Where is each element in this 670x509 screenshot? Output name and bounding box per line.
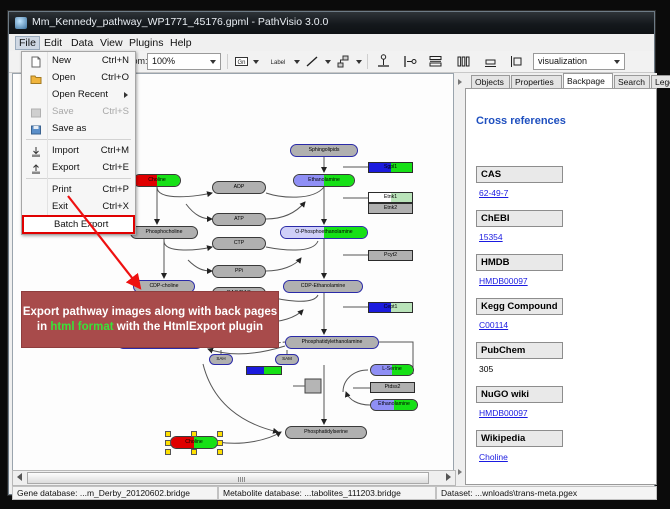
xref-value-kegg[interactable]: C00114	[479, 320, 508, 330]
menu-separator	[26, 139, 131, 140]
scrollbar-grip	[238, 477, 245, 482]
menu-item-open-recent[interactable]: Open Recent	[22, 86, 135, 103]
gene-pcyt2[interactable]: Pcyt2	[368, 250, 413, 261]
status-bar: Gene database: ...m_Derby_20120602.bridg…	[12, 486, 657, 500]
menu-item-batch-export[interactable]: Batch Export	[22, 215, 135, 234]
tab-backpage[interactable]: Backpage	[563, 73, 613, 88]
tab-search[interactable]: Search	[614, 75, 650, 88]
same-height-icon[interactable]	[509, 54, 524, 69]
node-label: Sphingolipids	[309, 148, 340, 153]
menu-item-print[interactable]: Print Ctrl+P	[22, 181, 135, 198]
backpage-content: Cross references CAS 62-49-7 ChEBI 15354…	[465, 88, 657, 485]
xref-label-kegg: Kegg Compound	[476, 298, 563, 315]
selection-handle[interactable]	[191, 449, 197, 455]
gene-ptdss2[interactable]: Ptdss2	[370, 382, 415, 393]
selection-handle[interactable]	[165, 431, 171, 437]
label-tool-icon[interactable]: Label	[264, 54, 292, 69]
node-cdp-ethanolamine[interactable]: CDP-Ethanolamine	[283, 280, 363, 293]
selection-handle[interactable]	[217, 440, 223, 446]
selection-handle[interactable]	[165, 449, 171, 455]
line-dropdown-icon[interactable]	[325, 60, 331, 64]
annotation-text: Export pathway images along with back pa…	[22, 305, 278, 333]
node-label: Ethanolamine	[378, 402, 410, 407]
svg-text:Label: Label	[271, 60, 286, 66]
toolbar-separator	[227, 54, 228, 69]
align-left-icon[interactable]	[402, 54, 417, 69]
align-top-icon[interactable]	[376, 54, 391, 69]
gene-etnk1[interactable]: Etnk1	[368, 192, 413, 203]
datanode-tool-icon[interactable]: Gn	[234, 54, 249, 69]
xref-label-pubchem: PubChem	[476, 342, 563, 359]
selection-handle[interactable]	[217, 431, 223, 437]
side-panel: Objects Properties Backpage Search Legen…	[465, 73, 657, 485]
menu-item-save: Save Ctrl+S	[22, 103, 135, 120]
save-as-icon	[30, 123, 42, 135]
gene-sgpl1[interactable]: Sgpl1	[368, 162, 413, 173]
xref-value-pubchem: 305	[479, 364, 493, 374]
menu-plugins[interactable]: Plugins	[125, 36, 167, 50]
node-l-serine[interactable]: L-Serine	[370, 364, 414, 376]
zoom-select[interactable]: 100%	[147, 53, 221, 70]
node-label: Choline	[148, 178, 166, 183]
status-metabolite-database: Metabolite database: ...tabolites_111203…	[218, 486, 436, 500]
xref-label-wikipedia: Wikipedia	[476, 430, 563, 447]
menu-view[interactable]: View	[96, 36, 127, 50]
panel-tabs: Objects Properties Backpage Search Legen…	[465, 73, 657, 88]
annotation-text-part2: with the HtmlExport plugin	[114, 321, 264, 333]
node-label: Phosphocholine	[146, 230, 183, 235]
pathvisio-window: Mm_Kennedy_pathway_WP1771_45176.gpml - P…	[8, 11, 655, 495]
scroll-left-icon[interactable]	[17, 473, 22, 481]
same-width-icon[interactable]	[483, 54, 498, 69]
line-tool-icon[interactable]	[305, 54, 320, 69]
node-label: Etnk2	[384, 206, 397, 211]
node-choline[interactable]: Choline	[133, 174, 181, 187]
node-ethanolamine[interactable]: Ethanolamine	[293, 174, 355, 187]
export-icon	[30, 162, 42, 174]
menu-item-save-as[interactable]: Save as	[22, 120, 135, 137]
menu-item-open[interactable]: Open Ctrl+O	[22, 69, 135, 86]
xref-label-chebi: ChEBI	[476, 210, 563, 227]
toolbar-separator-2	[367, 54, 368, 69]
tab-legend[interactable]: Legend	[651, 75, 670, 88]
node-label: CTP	[234, 241, 244, 246]
node-label: ATP	[234, 217, 244, 222]
node-atp[interactable]: ATP	[212, 213, 266, 226]
chevron-down-icon	[210, 60, 216, 64]
node-label: Ethanolamine	[308, 178, 340, 183]
splitter-collapse-icon[interactable]	[458, 79, 462, 85]
interaction-dropdown-icon[interactable]	[356, 60, 362, 64]
node-sam[interactable]: SAM	[275, 354, 299, 365]
zoom-value: 100%	[152, 56, 175, 66]
menu-edit[interactable]: Edit	[40, 36, 66, 50]
save-disk-icon	[30, 106, 42, 118]
node-ethanolamine-2[interactable]: Ethanolamine	[370, 399, 418, 411]
scroll-right-icon[interactable]	[446, 473, 451, 481]
new-document-icon	[30, 55, 42, 67]
node-phosphatidylethanolamine[interactable]: Phosphatidylethanolamine	[285, 336, 379, 349]
xref-label-hmdb: HMDB	[476, 254, 563, 271]
node-sah[interactable]: SAH	[209, 354, 233, 365]
expression-strip	[246, 366, 282, 375]
xref-value-hmdb[interactable]: HMDB00097	[479, 276, 528, 286]
node-ppi[interactable]: PPi	[212, 265, 266, 278]
xref-value-nugo[interactable]: HMDB00097	[479, 408, 528, 418]
visualization-value: visualization	[538, 56, 587, 66]
canvas-hscrollbar[interactable]	[12, 470, 456, 486]
node-label: Cept1	[384, 305, 398, 310]
label-dropdown-icon[interactable]	[294, 60, 300, 64]
node-o-phosphoethanolamine[interactable]: O-Phosphoethanolamine	[280, 226, 368, 239]
menu-help[interactable]: Help	[166, 36, 196, 50]
datanode-dropdown-icon[interactable]	[253, 60, 259, 64]
gene-cept1[interactable]: Cept1	[368, 302, 413, 313]
chevron-down-icon-2	[614, 60, 620, 64]
menu-item-import[interactable]: Import Ctrl+M	[22, 142, 135, 159]
node-label: SAM	[282, 357, 292, 362]
file-menu-popup[interactable]: New Ctrl+N Open Ctrl+O Open Recent Save …	[21, 51, 136, 235]
app-icon	[15, 17, 27, 29]
cross-references-title: Cross references	[476, 115, 566, 127]
window-title: Mm_Kennedy_pathway_WP1771_45176.gpml - P…	[32, 16, 328, 28]
node-label: Phosphatidylserine	[304, 430, 348, 435]
svg-text:Gn: Gn	[237, 60, 245, 66]
node-label: ADP	[234, 185, 245, 190]
node-label: Pcyt2	[384, 253, 397, 258]
xref-value-wikipedia[interactable]: Choline	[479, 452, 508, 462]
menu-item-export[interactable]: Export Ctrl+E	[22, 159, 135, 176]
node-ctp[interactable]: CTP	[212, 237, 266, 250]
node-adp[interactable]: ADP	[212, 181, 266, 194]
import-icon	[30, 145, 42, 157]
title-bar: Mm_Kennedy_pathway_WP1771_45176.gpml - P…	[9, 12, 654, 34]
node-phosphocholine[interactable]: Phosphocholine	[130, 226, 198, 239]
node-label: Phosphatidylethanolamine	[302, 340, 363, 345]
interaction-tool-icon[interactable]	[336, 54, 351, 69]
node-choline-selected[interactable]: Choline	[170, 436, 218, 449]
open-folder-icon	[30, 72, 42, 84]
menu-bar: File Edit Data View Plugins Help	[9, 34, 654, 52]
tab-objects[interactable]: Objects	[471, 75, 510, 88]
splitter-expand-icon[interactable]	[458, 469, 462, 475]
selection-handle[interactable]	[165, 440, 171, 446]
xref-value-chebi[interactable]: 15354	[479, 232, 503, 242]
node-label: PPi	[235, 269, 243, 274]
node-label: Etnk1	[384, 195, 397, 200]
annotation-callout: Export pathway images along with back pa…	[21, 291, 279, 348]
node-label: SAH	[216, 357, 225, 362]
annotation-text-highlight: html format	[50, 321, 113, 333]
node-label: O-Phosphoethanolamine	[295, 230, 352, 235]
node-label: Ptdss2	[385, 385, 401, 390]
menu-data[interactable]: Data	[67, 36, 97, 50]
node-label: L-Serine	[382, 367, 402, 372]
tab-properties[interactable]: Properties	[511, 75, 562, 88]
xref-label-nugo: NuGO wiki	[476, 386, 563, 403]
node-label: CDP-Ethanolamine	[301, 284, 345, 289]
node-label: Choline	[185, 440, 203, 445]
status-gene-database: Gene database: ...m_Derby_20120602.bridg…	[12, 486, 218, 500]
panel-splitter[interactable]	[456, 73, 464, 485]
gene-etnk2[interactable]: Etnk2	[368, 203, 413, 214]
selection-handle[interactable]	[217, 449, 223, 455]
distribute-icon[interactable]	[456, 54, 471, 69]
submenu-arrow-icon	[124, 92, 128, 98]
status-dataset: Dataset: ...wnloads\trans-meta.pgex	[436, 486, 657, 500]
menu-separator-2	[26, 178, 131, 179]
visualization-select[interactable]: visualization	[533, 53, 625, 70]
screenshot-frame: Mm_Kennedy_pathway_WP1771_45176.gpml - P…	[0, 0, 670, 509]
xref-label-cas: CAS	[476, 166, 563, 183]
menu-item-exit[interactable]: Exit Ctrl+X	[22, 198, 135, 215]
node-phosphatidylserine[interactable]: Phosphatidylserine	[285, 426, 367, 439]
selection-handle[interactable]	[191, 431, 197, 437]
menu-item-new[interactable]: New Ctrl+N	[22, 52, 135, 69]
stack-vertical-icon[interactable]	[428, 54, 443, 69]
node-label: CDP-choline	[149, 284, 178, 289]
node-label: Sgpl1	[384, 165, 397, 170]
menu-file[interactable]: File	[15, 36, 40, 50]
xref-value-cas[interactable]: 62-49-7	[479, 188, 508, 198]
scrollbar-thumb[interactable]	[27, 472, 429, 484]
node-sphingolipids[interactable]: Sphingolipids	[290, 144, 358, 157]
